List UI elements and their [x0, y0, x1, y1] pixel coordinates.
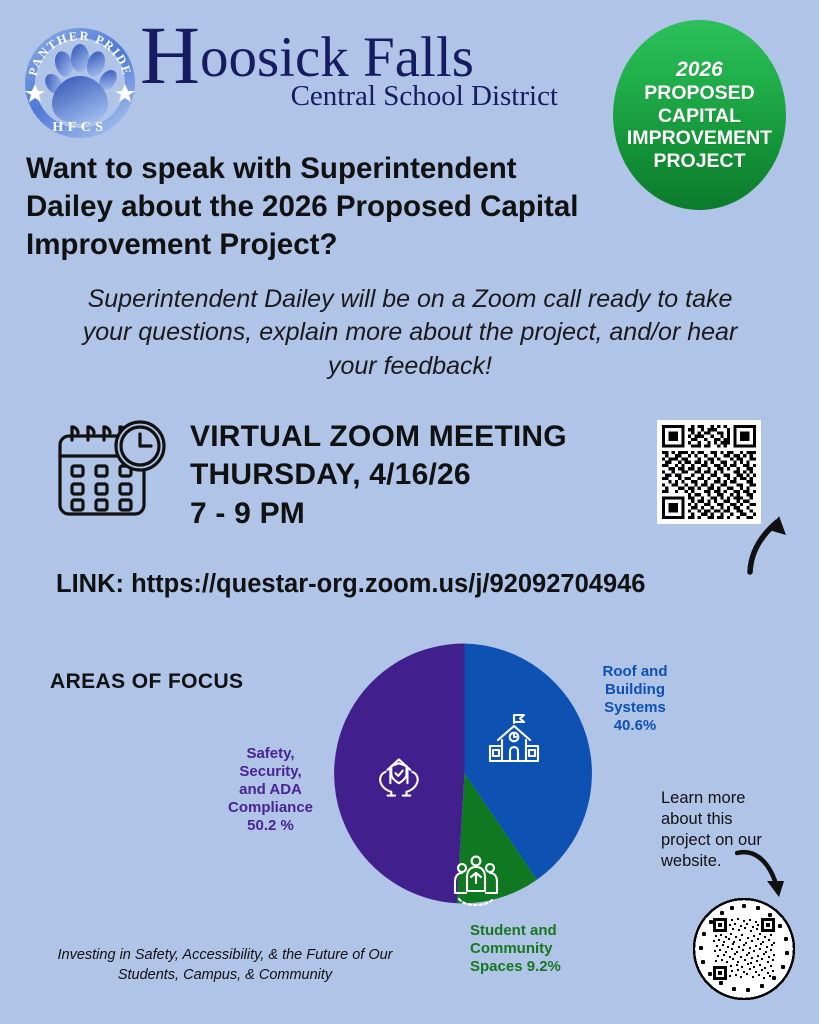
- svg-text:HFCS: HFCS: [52, 120, 107, 135]
- badge-line-2: CAPITAL: [658, 105, 741, 128]
- calendar-clock-icon: [52, 418, 172, 528]
- badge-line-4: PROJECT: [653, 150, 745, 173]
- curved-arrow-up-icon: [745, 512, 815, 576]
- pie-label-safety-value: 50.2 %: [218, 817, 323, 835]
- meeting-line-3: 7 - 9 PM: [190, 495, 660, 533]
- meeting-details: VIRTUAL ZOOM MEETING THURSDAY, 4/16/26 7…: [190, 418, 660, 533]
- meeting-line-2: THURSDAY, 4/16/26: [190, 456, 660, 494]
- pie-label-safety: Safety, Security, and ADA Compliance 50.…: [218, 745, 323, 835]
- pie-label-safety-line-1: Safety,: [218, 745, 323, 763]
- panther-paw-seal-logo: PANTHER PRIDE HFCS: [16, 18, 144, 146]
- headline: Want to speak with Superintendent Dailey…: [26, 150, 596, 263]
- pie-label-roof-line-3: Systems: [585, 699, 685, 717]
- pie-label-roof-value: 40.6%: [585, 717, 685, 735]
- pie-label-student-line-2: Community: [470, 940, 585, 958]
- pie-label-safety-line-4: Compliance: [218, 799, 323, 817]
- areas-of-focus-pie-chart: [332, 641, 597, 906]
- pie-label-roof: Roof and Building Systems 40.6%: [585, 663, 685, 735]
- district-name-dropcap: H: [140, 9, 200, 101]
- capital-project-badge: 2026 PROPOSED CAPITAL IMPROVEMENT PROJEC…: [613, 20, 786, 210]
- zoom-meeting-qr-code[interactable]: [657, 420, 761, 524]
- pie-label-safety-line-2: Security,: [218, 763, 323, 781]
- badge-year: 2026: [676, 58, 723, 82]
- website-qr-code[interactable]: [692, 897, 796, 1001]
- zoom-link[interactable]: LINK: https://questar-org.zoom.us/j/9209…: [56, 570, 796, 599]
- badge-line-1: PROPOSED: [644, 82, 755, 105]
- areas-of-focus-title: AREAS OF FOCUS: [50, 670, 243, 694]
- district-name: Hoosick Falls Central School District: [140, 22, 560, 111]
- flyer-page: PANTHER PRIDE HFCS Hoosick Falls Central…: [0, 0, 819, 1024]
- pie-label-student-value: Spaces 9.2%: [470, 958, 585, 976]
- pie-label-roof-line-2: Building: [585, 681, 685, 699]
- district-name-main: Hoosick Falls: [140, 22, 560, 88]
- subheadline: Superintendent Dailey will be on a Zoom …: [60, 283, 760, 383]
- badge-line-3: IMPROVEMENT: [627, 127, 772, 150]
- pie-label-student: Student and Community Spaces 9.2%: [470, 922, 585, 976]
- pie-label-roof-line-1: Roof and: [585, 663, 685, 681]
- pie-label-student-line-1: Student and: [470, 922, 585, 940]
- meeting-line-1: VIRTUAL ZOOM MEETING: [190, 418, 660, 456]
- pie-label-safety-line-3: and ADA: [218, 781, 323, 799]
- tagline: Investing in Safety, Accessibility, & th…: [50, 945, 400, 986]
